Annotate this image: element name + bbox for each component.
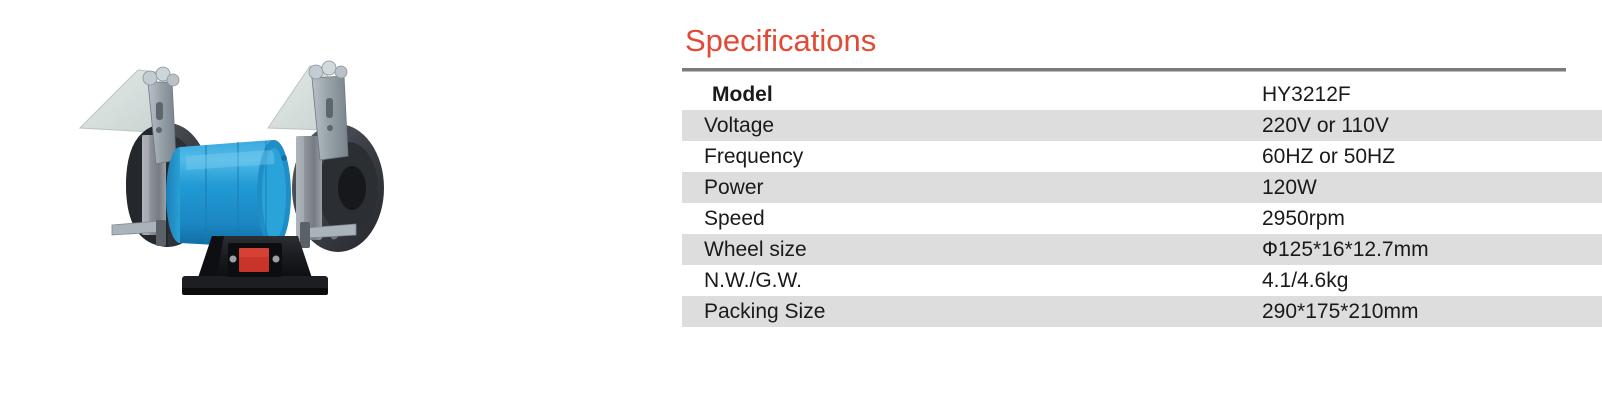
spec-key: Frequency	[682, 141, 1252, 172]
page-root: Specifications Model HY3212F Voltage 220…	[0, 0, 1602, 403]
motor-housing	[166, 140, 291, 248]
spec-key: Model	[682, 79, 1252, 110]
product-image-figure	[60, 40, 405, 305]
spec-value: 4.1/4.6kg	[1252, 265, 1602, 296]
table-row: Frequency 60HZ or 50HZ	[682, 141, 1602, 172]
spec-value: 290*175*210mm	[1252, 296, 1602, 327]
specifications-panel: Specifications Model HY3212F Voltage 220…	[682, 22, 1566, 327]
specifications-table: Model HY3212F Voltage 220V or 110V Frequ…	[682, 79, 1602, 327]
table-row: Wheel size Ф125*16*12.7mm	[682, 234, 1602, 265]
table-row: Packing Size 290*175*210mm	[682, 296, 1602, 327]
spec-key: Power	[682, 172, 1252, 203]
spec-value: 2950rpm	[1252, 203, 1602, 234]
specifications-title: Specifications	[685, 22, 1566, 60]
spec-value: 60HZ or 50HZ	[1252, 141, 1602, 172]
spec-key: N.W./G.W.	[682, 265, 1252, 296]
table-row: Voltage 220V or 110V	[682, 110, 1602, 141]
spec-value: 120W	[1252, 172, 1602, 203]
bench-grinder-illustration	[60, 40, 405, 305]
spec-value: Ф125*16*12.7mm	[1252, 234, 1602, 265]
specifications-table-body: Model HY3212F Voltage 220V or 110V Frequ…	[682, 79, 1602, 327]
spec-value: 220V or 110V	[1252, 110, 1602, 141]
spec-key: Packing Size	[682, 296, 1252, 327]
table-row: Power 120W	[682, 172, 1602, 203]
table-row: Model HY3212F	[682, 79, 1602, 110]
title-divider	[682, 68, 1566, 72]
table-row: N.W./G.W. 4.1/4.6kg	[682, 265, 1602, 296]
left-tool-rest	[112, 220, 166, 246]
spec-value: HY3212F	[1252, 79, 1602, 110]
spec-key: Speed	[682, 203, 1252, 234]
spec-key: Voltage	[682, 110, 1252, 141]
table-row: Speed 2950rpm	[682, 203, 1602, 234]
spec-key: Wheel size	[682, 234, 1252, 265]
